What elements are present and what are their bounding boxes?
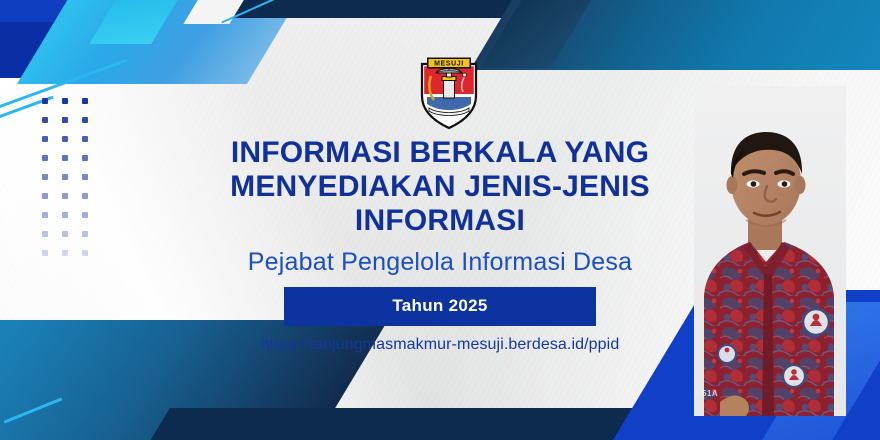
decor-dot — [42, 231, 48, 237]
decor-dot — [62, 250, 68, 256]
decor-dot — [62, 212, 68, 218]
decor-dot — [42, 155, 48, 161]
banner-content: INFORMASI BERKALA YANG MENYEDIAKAN JENIS… — [120, 136, 760, 354]
decor-dot — [82, 193, 88, 199]
decor-dot-grid — [42, 98, 102, 269]
decor-dot — [42, 212, 48, 218]
website-url: https://tanjungmasmakmur-mesuji.berdesa.… — [120, 336, 760, 354]
decor-dot — [62, 98, 68, 104]
headline-line-3: INFORMASI — [120, 204, 760, 238]
decor-dot — [42, 250, 48, 256]
page-title: INFORMASI BERKALA YANG MENYEDIAKAN JENIS… — [120, 136, 760, 238]
portrait-watermark: 51A — [702, 389, 718, 398]
decor-dot — [82, 136, 88, 142]
decor-dot — [82, 231, 88, 237]
banner-canvas: MESUJI INFORMASI BERKALA YANG MENYEDIAKA… — [0, 0, 880, 440]
decor-dot — [42, 98, 48, 104]
decor-dot — [62, 155, 68, 161]
decor-dot — [42, 117, 48, 123]
year-badge: Tahun 2025 — [284, 287, 596, 326]
decor-dot — [82, 174, 88, 180]
decor-dot — [82, 117, 88, 123]
decor-dot — [42, 174, 48, 180]
decor-dot — [82, 212, 88, 218]
decor-dot — [62, 174, 68, 180]
headline-line-1: INFORMASI BERKALA YANG — [120, 136, 760, 170]
decor-dot — [82, 155, 88, 161]
headline-line-2: MENYEDIAKAN JENIS-JENIS — [120, 170, 760, 204]
decor-dot — [62, 117, 68, 123]
decor-dot — [62, 231, 68, 237]
decor-dot — [42, 193, 48, 199]
decor-dot — [42, 136, 48, 142]
decor-dot — [82, 98, 88, 104]
decor-dot — [62, 136, 68, 142]
page-subtitle: Pejabat Pengelola Informasi Desa — [120, 248, 760, 277]
mesuji-regency-emblem-icon: MESUJI — [418, 52, 480, 130]
svg-text:MESUJI: MESUJI — [434, 61, 464, 68]
decor-dot — [82, 250, 88, 256]
decor-dot — [62, 193, 68, 199]
